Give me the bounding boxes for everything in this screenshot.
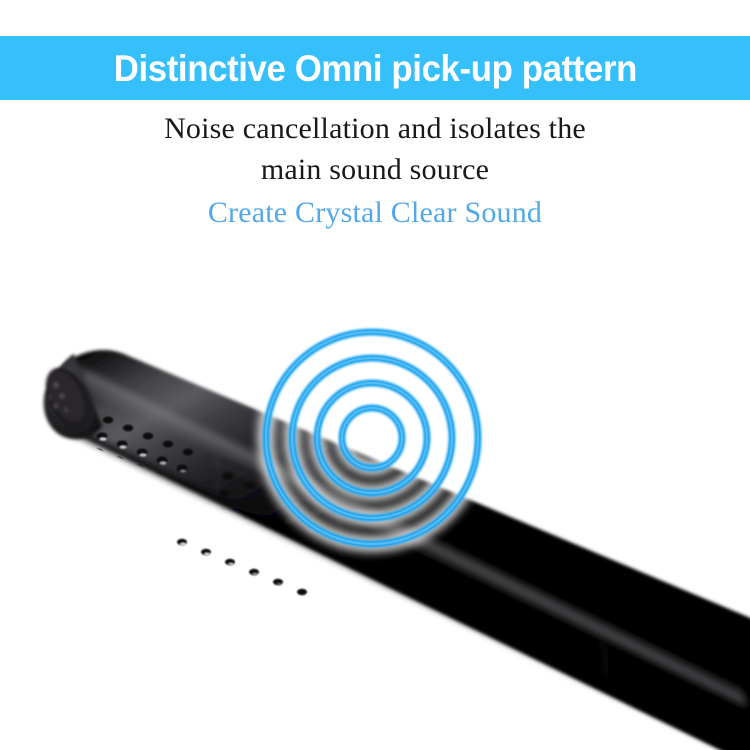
subtitle-block: Noise cancellation and isolates the main…	[0, 108, 750, 233]
microphone-body	[48, 350, 750, 750]
subtitle-line-3-accent: Create Crystal Clear Sound	[0, 192, 750, 233]
headline-banner: Distinctive Omni pick-up pattern	[0, 36, 750, 100]
product-photo	[0, 250, 750, 750]
subtitle-line-1: Noise cancellation and isolates the	[0, 108, 750, 149]
microphone-illustration	[0, 250, 750, 750]
product-marketing-image: Distinctive Omni pick-up pattern Noise c…	[0, 0, 750, 750]
subtitle-line-2: main sound source	[0, 149, 750, 190]
banner-title: Distinctive Omni pick-up pattern	[113, 50, 636, 87]
grille-row-lower	[177, 539, 307, 595]
barrel-gloss	[84, 372, 746, 704]
